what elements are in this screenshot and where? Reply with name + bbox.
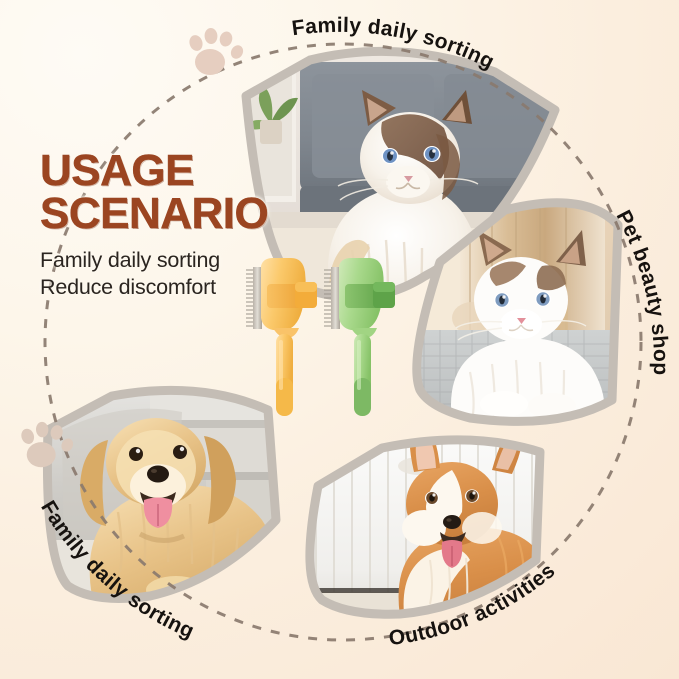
- scenario-label-bottom: Outdoor activities: [387, 559, 559, 650]
- scenario-label-right: Pet beauty shop: [612, 207, 673, 376]
- scenario-label-left: Family daily sorting: [36, 497, 197, 643]
- curved-label-group: Family daily sorting Pet beauty shop Out…: [0, 0, 679, 679]
- infographic-canvas: USAGESCENARIO Family daily sorting Reduc…: [0, 0, 679, 679]
- scenario-label-top: Family daily sorting: [290, 14, 498, 74]
